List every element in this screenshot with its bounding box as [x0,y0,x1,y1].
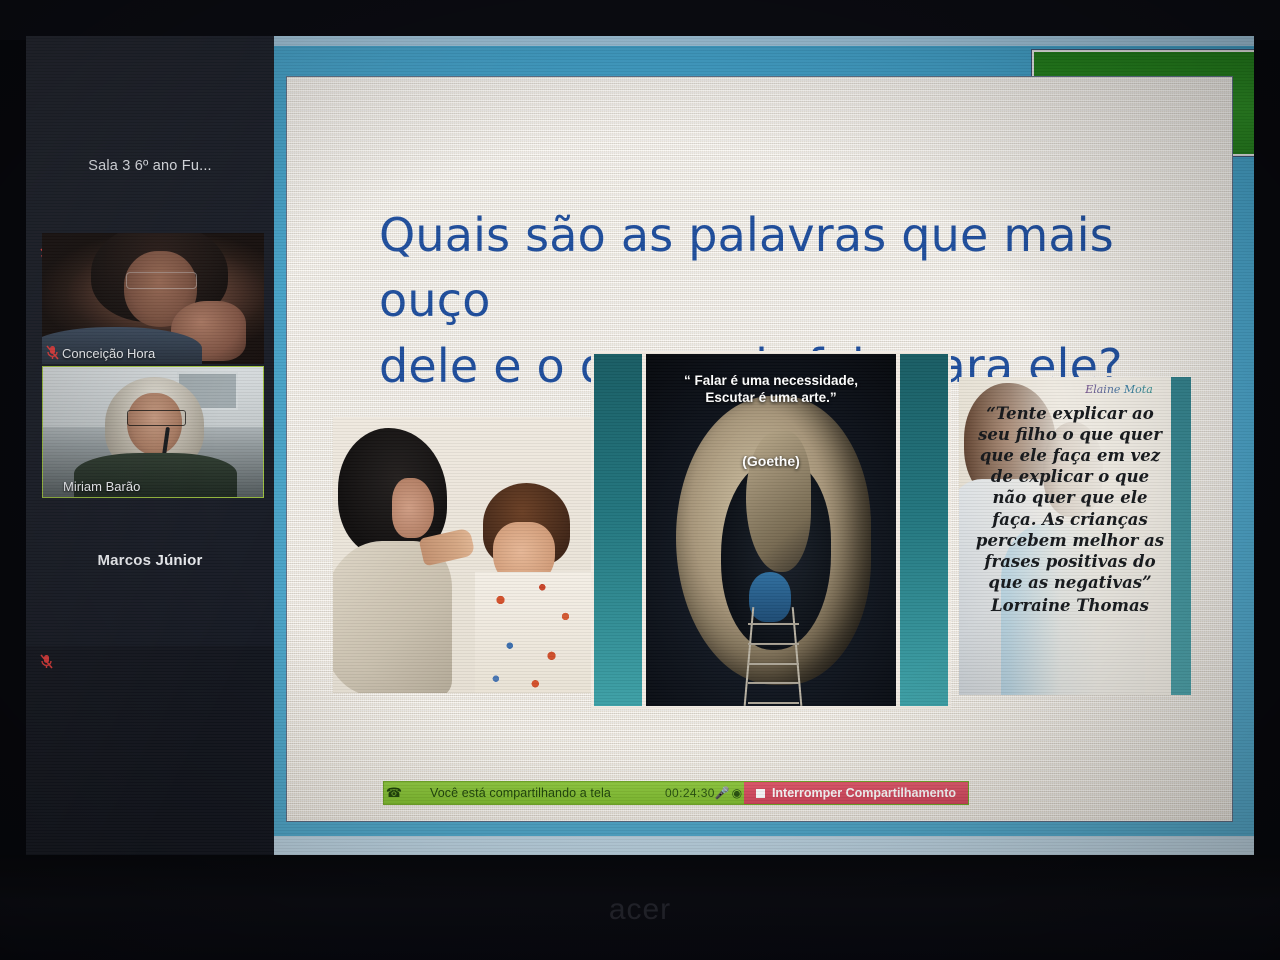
video-icon[interactable]: ◉ [730,786,744,800]
phone-icon: ☎ [384,785,404,801]
mic-muted-icon [40,654,53,669]
author-signature: Elaine Mota [1071,383,1167,396]
child-floral-dress [475,572,591,693]
ear-quote-line-2: Escutar é uma arte.” [656,389,886,406]
laptop-screen-photo: Sala 3 6º ano Fu... Conceição Hora [0,0,1280,960]
slide-photo-ear: “ Falar é uma necessidade, Escutar é uma… [591,351,951,709]
participant-name-text: Miriam Barão [63,479,140,494]
participant-tile-2[interactable]: Marcos Júnior [26,552,274,569]
handwritten-quote-author: Lorraine Thomas [973,595,1167,616]
acer-logo: acer [0,893,1280,927]
adult-face [392,478,433,539]
slide-photo-father-child: Elaine Mota “Tente explicar ao seu filho… [959,377,1191,695]
handwritten-quote-text: “Tente explicar ao seu filho o que quer … [976,404,1164,592]
participant-name-label: Conceição Hora [44,345,159,363]
teal-bar-right [900,354,948,706]
participant-tile-1[interactable]: Miriam Barão [42,366,264,498]
participants-sidebar[interactable]: Sala 3 6º ano Fu... Conceição Hora [26,36,274,646]
teal-bar-right [1171,377,1191,695]
slide-photo-scolding [333,417,591,693]
ear-quote-text: “ Falar é uma necessidade, Escutar é uma… [656,372,886,407]
teal-bar-left [594,354,642,706]
glasses-icon [126,272,197,288]
stop-square-icon [756,789,765,798]
presentation-slide[interactable]: Quais são as palavras que mais ouço dele… [286,76,1233,822]
ear-quote-author: (Goethe) [646,453,896,469]
ladder-icon [746,607,801,706]
stop-share-button[interactable]: Interromper Compartilhamento [744,782,968,804]
shared-screen-area: Quais são as palavras que mais ouço dele… [274,36,1254,858]
ear-quote-line-1: “ Falar é uma necessidade, [656,372,886,389]
stop-share-label: Interromper Compartilhamento [772,786,956,800]
share-timer: 00:24:30 [665,786,715,800]
laptop-bezel-top [0,0,1280,40]
mic-muted-icon [46,345,59,360]
slide-title-line-1: Quais são as palavras que mais ouço [379,203,1179,334]
ear-illustration: “ Falar é uma necessidade, Escutar é uma… [646,354,896,706]
screen-share-toolbar[interactable]: ☎ Você está compartilhando a tela 00:24:… [383,781,969,805]
screen-content: Sala 3 6º ano Fu... Conceição Hora [26,36,1254,858]
share-status-text: Você está compartilhando a tela [404,786,611,800]
mic-muted-icon[interactable]: 🎤 [715,786,730,800]
participant-name-label: Miriam Barão [45,478,144,496]
glasses-icon [127,410,186,426]
participant-tile-0[interactable]: Conceição Hora [42,233,264,364]
handwritten-quote: “Tente explicar ao seu filho o que quer … [973,403,1167,616]
meeting-title: Sala 3 6º ano Fu... [26,158,274,174]
adult-arm [333,541,452,693]
participant-name-text: Conceição Hora [62,346,155,361]
